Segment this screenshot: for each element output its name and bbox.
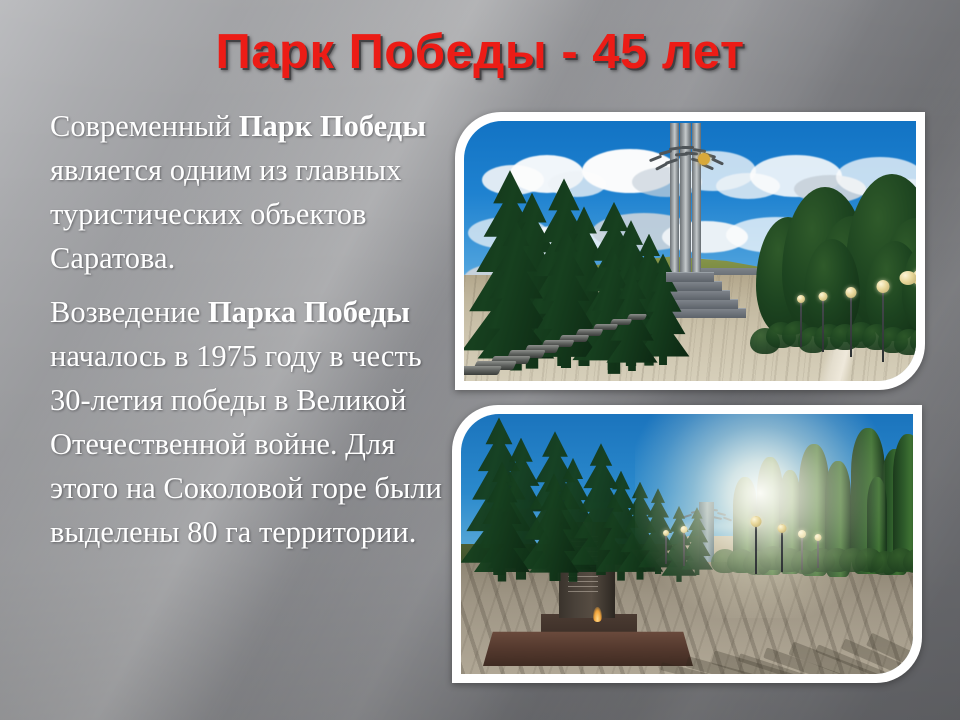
lamp-post <box>773 524 791 572</box>
lamp-globe <box>913 269 917 286</box>
lamp-globe <box>819 292 828 301</box>
crane-figure <box>723 517 732 522</box>
paragraph-2-run-3: началось в 1975 году в честь 30-летия по… <box>50 339 442 549</box>
eternal-flame-photo-frame[interactable] <box>452 405 922 683</box>
paragraph-1: Современный Парк Победы является одним и… <box>50 104 442 280</box>
lamp-post <box>793 530 811 570</box>
paragraph-1-run-1: Современный <box>50 109 239 143</box>
paragraph-1-run-2: Парк Победы <box>239 109 426 143</box>
crane-sculpture <box>647 145 721 179</box>
slide: Парк Победы - 45 лет Современный Парк По… <box>0 0 960 720</box>
slide-title: Парк Победы - 45 лет <box>0 24 960 80</box>
paragraph-2: Возведение Парка Победы началось в 1975 … <box>50 290 442 554</box>
crane-figure <box>681 146 694 149</box>
lamp-post <box>910 269 916 367</box>
lamp-post <box>675 526 693 566</box>
monument-photo-frame[interactable] <box>455 112 925 390</box>
lamp-globe <box>846 287 857 298</box>
body-text: Современный Парк Победы является одним и… <box>50 104 442 556</box>
lamp-post <box>747 516 765 574</box>
spruce-tree <box>523 473 585 581</box>
lamp-post <box>840 287 862 357</box>
eternal-flame-slab <box>483 632 693 666</box>
staircase-step <box>666 272 714 282</box>
paragraph-2-run-2: Парка Победы <box>208 295 410 329</box>
lamp-globe <box>877 280 890 293</box>
lamp-globe <box>815 534 822 541</box>
monument-star <box>698 153 710 165</box>
lamp-post <box>657 530 675 564</box>
lamp-pole <box>822 292 824 352</box>
lamp-globe <box>681 526 688 533</box>
lamp-globe <box>797 295 805 303</box>
crane-figure <box>649 155 662 163</box>
lamp-post <box>809 534 827 568</box>
lamp-post <box>812 292 834 352</box>
lamp-globe <box>778 524 787 533</box>
lamp-globe <box>751 516 762 527</box>
lamp-globe <box>798 530 806 538</box>
lamp-post <box>790 295 812 347</box>
crane-figure <box>665 158 678 165</box>
paragraph-1-run-3: является одним из главных туристических … <box>50 153 401 275</box>
paragraph-2-run-1: Возведение <box>50 295 208 329</box>
lamp-globe <box>663 530 669 536</box>
lamp-post <box>872 280 894 362</box>
monument-photo <box>464 121 916 381</box>
bench <box>464 366 502 375</box>
eternal-flame <box>593 607 602 622</box>
eternal-flame-photo <box>461 414 913 674</box>
crane-figure <box>717 512 726 516</box>
